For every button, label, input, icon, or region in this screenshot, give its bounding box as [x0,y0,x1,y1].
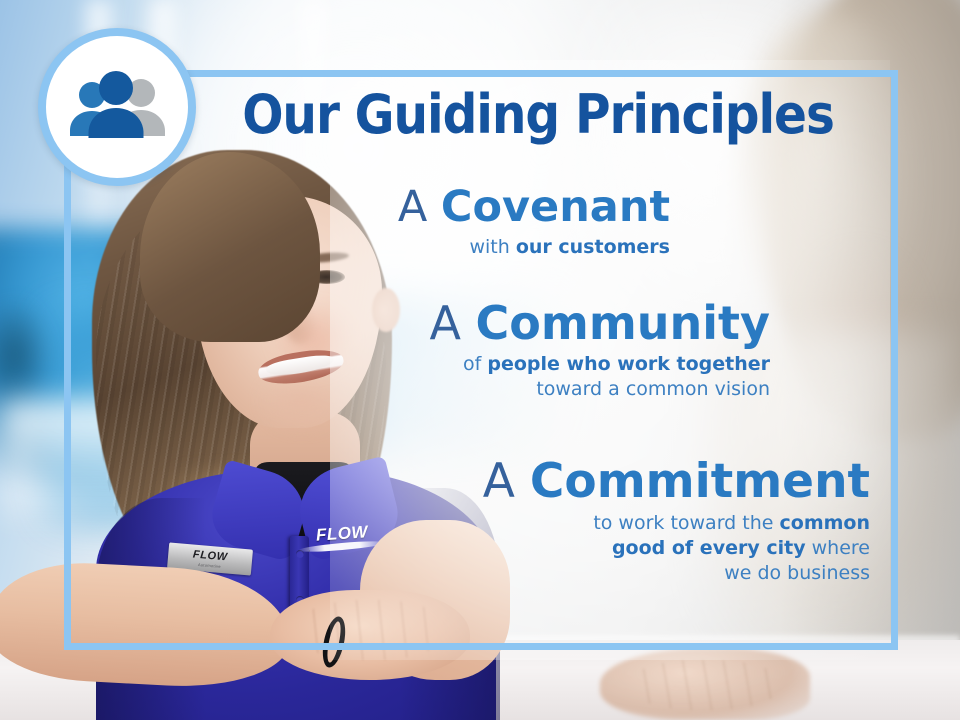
principle-keyword: Community [476,296,770,350]
principle-commitment: A Commitment to work toward the commongo… [330,458,870,586]
principle-article: A [483,454,515,509]
principle-subtext-line: we do business [330,561,870,586]
principle-covenant: A Covenant with our customers [240,186,670,260]
principle-subtext: with our customers [240,235,670,260]
people-group-icon [63,71,171,143]
principle-subtext-line: good of every city where [330,536,870,561]
customer-fingers [630,660,780,710]
principle-title: A Commitment [330,458,870,506]
principle-subtext: of people who work together toward a com… [280,352,770,402]
principle-title: A Covenant [240,186,670,230]
principle-article: A [398,182,427,232]
name-badge-subtitle: Automotive [198,562,221,568]
principle-title: A Community [280,300,770,347]
associate-fingers [296,600,446,660]
principle-subtext-line: toward a common vision [280,377,770,402]
principle-subtext-line: with our customers [469,236,670,258]
principle-subtext: to work toward the commongood of every c… [330,511,870,586]
principle-keyword: Covenant [441,182,670,232]
name-badge-brand: FLOW [192,549,228,563]
people-group-icon-badge [38,28,196,186]
principle-article: A [429,296,460,350]
principle-keyword: Commitment [530,454,870,509]
principle-community: A Community of people who work together … [280,300,770,402]
guiding-principles-graphic: FLOW Automotive FLOW [0,0,960,720]
principle-subtext-line: to work toward the common [330,511,870,536]
principle-subtext-line: of people who work together [280,352,770,377]
page-title: Our Guiding Principles [241,88,835,142]
